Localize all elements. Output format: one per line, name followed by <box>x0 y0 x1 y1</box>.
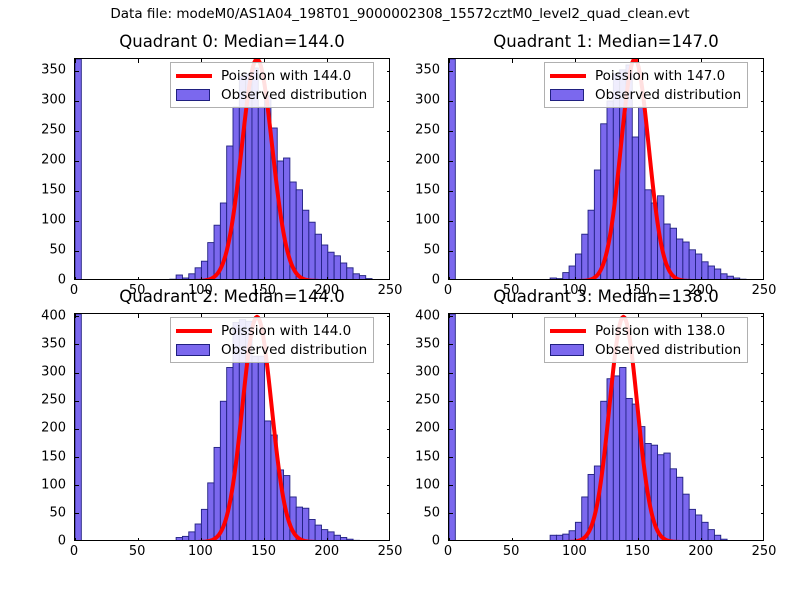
x-tick-label: 250 <box>752 544 777 559</box>
x-tick-mark <box>75 314 76 318</box>
legend-item: Poission with 147.0 <box>550 66 741 85</box>
histogram-bar <box>321 245 327 280</box>
y-tick-label: 250 <box>14 393 66 408</box>
legend-line-swatch <box>550 69 586 83</box>
x-tick-mark <box>449 538 450 541</box>
y-tick-mark <box>75 457 79 458</box>
histogram-bar <box>563 273 569 280</box>
histogram-bar <box>176 275 182 280</box>
y-tick-mark <box>75 429 79 430</box>
histogram-bar <box>303 508 309 541</box>
subplot-title-quadrant-0: Quadrant 0: Median=144.0 <box>74 32 390 51</box>
histogram-bar <box>340 263 346 280</box>
histogram-bar <box>309 519 315 541</box>
histogram-bar <box>714 535 720 541</box>
y-tick-label: 0 <box>388 534 440 549</box>
y-tick-mark <box>761 221 764 222</box>
legend-patch-icon <box>550 344 584 356</box>
histogram-bar <box>366 279 372 280</box>
x-tick-mark <box>638 277 639 280</box>
y-tick-mark <box>449 373 453 374</box>
y-tick-mark <box>75 71 79 72</box>
y-tick-label: 150 <box>14 449 66 464</box>
y-tick-mark <box>761 131 764 132</box>
x-tick-mark <box>512 314 513 318</box>
legend-item-label: Observed distribution <box>221 87 367 103</box>
x-tick-label: 100 <box>562 544 587 559</box>
legend-line-swatch <box>550 324 586 338</box>
histogram-bar <box>353 540 359 541</box>
legend-line-swatch <box>176 69 212 83</box>
y-tick-label: 300 <box>14 93 66 108</box>
legend-item: Poission with 144.0 <box>176 321 367 340</box>
y-tick-mark <box>761 485 764 486</box>
x-tick-mark <box>201 277 202 280</box>
y-tick-label: 50 <box>14 505 66 520</box>
legend-line-icon <box>176 74 212 78</box>
histogram-bar <box>613 376 619 541</box>
y-tick-mark <box>449 401 453 402</box>
y-tick-label: 150 <box>388 183 440 198</box>
y-tick-mark <box>761 251 764 252</box>
histogram-bar <box>334 256 340 280</box>
x-tick-label: 150 <box>251 544 276 559</box>
histogram-bar <box>303 210 309 280</box>
y-tick-label: 200 <box>14 421 66 436</box>
y-tick-label: 50 <box>388 243 440 258</box>
x-tick-mark <box>449 314 450 318</box>
y-tick-label: 400 <box>14 308 66 323</box>
histogram-bar <box>208 243 214 280</box>
y-tick-label: 250 <box>14 123 66 138</box>
legend-line-icon <box>176 329 212 333</box>
histogram-bar <box>620 367 626 541</box>
histogram-bar <box>582 234 588 280</box>
y-tick-label: 100 <box>14 477 66 492</box>
histogram-bar <box>359 276 365 280</box>
figure-suptitle: Data file: modeM0/AS1A04_198T01_90000023… <box>0 6 800 22</box>
y-tick-mark <box>449 101 453 102</box>
legend-patch-swatch <box>550 88 586 102</box>
legend-item: Poission with 144.0 <box>176 66 367 85</box>
y-tick-mark <box>761 373 764 374</box>
y-tick-mark <box>75 485 79 486</box>
y-tick-label: 350 <box>388 336 440 351</box>
y-tick-mark <box>449 513 453 514</box>
y-tick-mark <box>449 71 453 72</box>
histogram-bar <box>449 59 455 280</box>
y-tick-label: 200 <box>14 153 66 168</box>
histogram-bar <box>683 242 689 280</box>
histogram-bar <box>315 234 321 280</box>
x-tick-label: 150 <box>625 544 650 559</box>
legend-item-label: Poission with 144.0 <box>221 323 351 339</box>
subplot-title-quadrant-2: Quadrant 2: Median=144.0 <box>74 287 390 306</box>
histogram-bar <box>658 455 664 541</box>
histogram-bar <box>328 532 334 541</box>
y-tick-label: 150 <box>388 449 440 464</box>
y-tick-label: 0 <box>14 534 66 549</box>
legend-patch-swatch <box>176 343 212 357</box>
histogram-bar <box>677 239 683 280</box>
histogram-bar <box>721 274 727 280</box>
y-tick-mark <box>761 401 764 402</box>
histogram-bar <box>182 536 188 541</box>
y-tick-mark <box>75 161 79 162</box>
histogram-bar <box>550 278 556 280</box>
y-tick-label: 200 <box>388 421 440 436</box>
x-tick-label: 200 <box>314 544 339 559</box>
x-tick-mark <box>264 277 265 280</box>
legend-patch-icon <box>176 89 210 101</box>
x-tick-mark <box>75 538 76 541</box>
y-tick-mark <box>75 251 79 252</box>
legend-item: Observed distribution <box>550 340 741 359</box>
y-tick-mark <box>761 429 764 430</box>
histogram-bar <box>733 278 739 280</box>
y-tick-mark <box>449 429 453 430</box>
histogram-bar <box>708 530 714 541</box>
x-tick-mark <box>75 277 76 280</box>
x-tick-mark <box>701 538 702 541</box>
histogram-bar <box>75 314 81 541</box>
legend-line-icon <box>550 74 586 78</box>
histogram-bar <box>75 59 81 280</box>
x-tick-mark <box>575 277 576 280</box>
histogram-bar <box>677 477 683 541</box>
x-tick-mark <box>327 277 328 280</box>
y-tick-mark <box>449 191 453 192</box>
plot-area-quadrant-3: Poission with 138.0Observed distribution <box>448 313 764 541</box>
histogram-bar <box>189 532 195 541</box>
y-tick-mark <box>75 221 79 222</box>
x-tick-mark <box>201 538 202 541</box>
legend-quadrant-2: Poission with 144.0Observed distribution <box>170 317 374 363</box>
x-tick-label: 100 <box>188 544 213 559</box>
histogram-bar <box>575 254 581 280</box>
y-tick-label: 50 <box>388 505 440 520</box>
y-tick-label: 200 <box>388 153 440 168</box>
histogram-bar <box>214 447 220 541</box>
x-tick-mark <box>512 277 513 280</box>
y-tick-mark <box>449 316 453 317</box>
x-tick-mark <box>638 538 639 541</box>
y-tick-mark <box>761 191 764 192</box>
y-tick-mark <box>449 251 453 252</box>
histogram-bar <box>708 266 714 280</box>
legend-patch-icon <box>176 344 210 356</box>
histogram-bar <box>556 535 562 541</box>
legend-quadrant-3: Poission with 138.0Observed distribution <box>544 317 748 363</box>
subplot-title-quadrant-1: Quadrant 1: Median=147.0 <box>448 32 764 51</box>
histogram-bar <box>182 278 188 280</box>
y-tick-mark <box>75 131 79 132</box>
histogram-bar <box>258 107 264 280</box>
y-tick-mark <box>449 344 453 345</box>
histogram-bar <box>449 314 455 541</box>
y-tick-mark <box>449 131 453 132</box>
x-tick-mark <box>138 59 139 63</box>
legend-line-swatch <box>176 324 212 338</box>
plot-area-quadrant-2: Poission with 144.0Observed distribution <box>74 313 390 541</box>
histogram-bar <box>702 262 708 280</box>
y-tick-mark <box>75 373 79 374</box>
histogram-bar <box>626 398 632 541</box>
histogram-bar <box>315 525 321 541</box>
histogram-bar <box>328 252 334 280</box>
y-tick-label: 100 <box>14 213 66 228</box>
y-tick-label: 300 <box>14 365 66 380</box>
histogram-bar <box>201 261 207 280</box>
histogram-bar <box>201 509 207 541</box>
legend-item: Observed distribution <box>176 85 367 104</box>
legend-patch-icon <box>550 89 584 101</box>
y-tick-mark <box>449 161 453 162</box>
x-tick-mark <box>449 277 450 280</box>
y-tick-mark <box>761 457 764 458</box>
histogram-bar <box>189 274 195 280</box>
legend-quadrant-1: Poission with 147.0Observed distribution <box>544 62 748 108</box>
histogram-bar <box>721 539 727 541</box>
x-tick-mark <box>264 538 265 541</box>
y-tick-label: 350 <box>388 63 440 78</box>
y-tick-label: 300 <box>388 365 440 380</box>
y-tick-mark <box>75 191 79 192</box>
histogram-bar <box>208 483 214 541</box>
plot-area-quadrant-1: Poission with 147.0Observed distribution <box>448 58 764 280</box>
histogram-bar <box>265 421 271 541</box>
x-tick-label: 0 <box>70 544 78 559</box>
legend-item-label: Observed distribution <box>221 342 367 358</box>
histogram-bar <box>670 469 676 541</box>
histogram-bar <box>252 356 258 541</box>
histogram-bar <box>258 356 264 541</box>
x-tick-mark <box>701 277 702 280</box>
x-tick-mark <box>512 59 513 63</box>
y-tick-label: 250 <box>388 123 440 138</box>
legend-quadrant-0: Poission with 144.0Observed distribution <box>170 62 374 108</box>
histogram-bar <box>347 539 353 541</box>
subplot-title-quadrant-3: Quadrant 3: Median=138.0 <box>448 287 764 306</box>
x-tick-mark <box>138 538 139 541</box>
histogram-bar <box>556 279 562 280</box>
y-tick-mark <box>761 161 764 162</box>
x-tick-mark <box>138 277 139 280</box>
histogram-bar <box>309 222 315 280</box>
y-tick-label: 0 <box>388 273 440 288</box>
y-tick-mark <box>449 457 453 458</box>
y-tick-label: 250 <box>388 393 440 408</box>
y-tick-mark <box>449 221 453 222</box>
x-tick-label: 0 <box>444 544 452 559</box>
y-tick-mark <box>75 401 79 402</box>
legend-patch-swatch <box>176 88 212 102</box>
y-tick-mark <box>449 485 453 486</box>
y-tick-label: 350 <box>14 63 66 78</box>
y-tick-label: 300 <box>388 93 440 108</box>
y-tick-label: 400 <box>388 308 440 323</box>
x-tick-mark <box>575 538 576 541</box>
histogram-bar <box>170 279 176 280</box>
histogram-bar <box>702 522 708 541</box>
x-tick-label: 200 <box>688 544 713 559</box>
x-tick-mark <box>327 538 328 541</box>
y-tick-label: 350 <box>14 336 66 351</box>
x-tick-mark <box>512 538 513 541</box>
y-tick-mark <box>75 513 79 514</box>
histogram-bar <box>334 535 340 541</box>
legend-item-label: Poission with 144.0 <box>221 68 351 84</box>
histogram-bar <box>689 509 695 541</box>
histogram-bar <box>727 276 733 280</box>
y-tick-mark <box>761 101 764 102</box>
x-tick-mark <box>449 59 450 63</box>
x-tick-label: 50 <box>503 544 520 559</box>
legend-patch-swatch <box>550 343 586 357</box>
y-tick-mark <box>761 344 764 345</box>
histogram-bar <box>594 170 600 280</box>
histogram-bar <box>550 535 556 541</box>
histogram-bar <box>632 137 638 280</box>
legend-item-label: Observed distribution <box>595 342 741 358</box>
histogram-bar <box>588 210 594 280</box>
histogram-bar <box>353 274 359 280</box>
y-tick-label: 100 <box>388 477 440 492</box>
legend-item-label: Observed distribution <box>595 87 741 103</box>
histogram-bar <box>645 190 651 280</box>
figure-canvas: Data file: modeM0/AS1A04_198T01_90000023… <box>0 0 800 600</box>
histogram-bar <box>740 279 746 280</box>
histogram-bar <box>664 453 670 541</box>
histogram-bar <box>714 269 720 280</box>
legend-item: Observed distribution <box>176 340 367 359</box>
plot-area-quadrant-0: Poission with 144.0Observed distribution <box>74 58 390 280</box>
x-tick-label: 50 <box>129 544 146 559</box>
histogram-bar <box>683 494 689 541</box>
y-tick-mark <box>75 316 79 317</box>
x-tick-mark <box>75 59 76 63</box>
legend-item-label: Poission with 138.0 <box>595 323 725 339</box>
y-tick-mark <box>761 71 764 72</box>
histogram-bar <box>176 538 182 542</box>
y-tick-mark <box>75 344 79 345</box>
y-tick-mark <box>761 513 764 514</box>
y-tick-mark <box>761 316 764 317</box>
legend-item-label: Poission with 147.0 <box>595 68 725 84</box>
histogram-bar <box>639 107 645 280</box>
legend-item: Poission with 138.0 <box>550 321 741 340</box>
histogram-bar <box>340 538 346 542</box>
y-tick-label: 0 <box>14 273 66 288</box>
y-tick-label: 100 <box>388 213 440 228</box>
x-tick-mark <box>138 314 139 318</box>
legend-line-icon <box>550 329 586 333</box>
legend-item: Observed distribution <box>550 85 741 104</box>
y-tick-mark <box>75 101 79 102</box>
y-tick-label: 150 <box>14 183 66 198</box>
y-tick-label: 50 <box>14 243 66 258</box>
histogram-bar <box>296 190 302 280</box>
histogram-bar <box>347 268 353 280</box>
histogram-bar <box>689 250 695 280</box>
